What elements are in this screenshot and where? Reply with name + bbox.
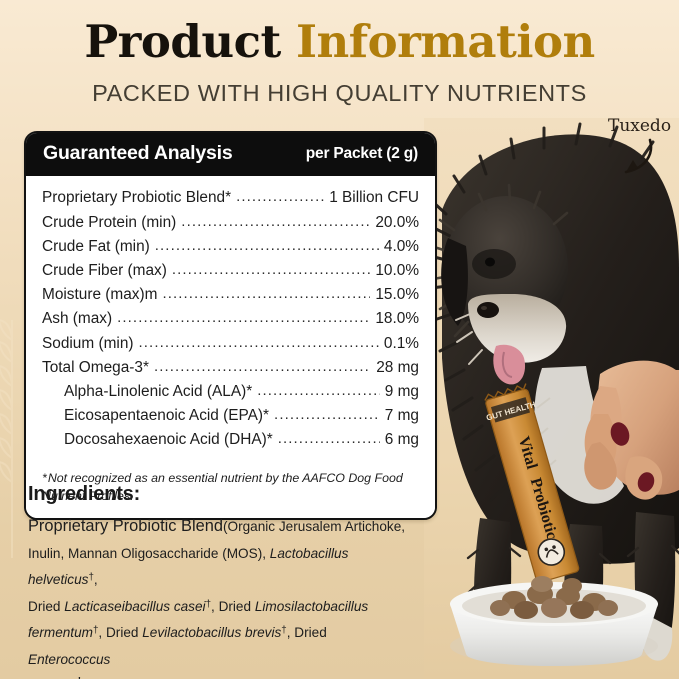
nutrient-value: 20.0%	[375, 215, 419, 230]
nutrient-name: Proprietary Probiotic Blend*	[42, 190, 231, 205]
page-subtitle: PACKED WITH HIGH QUALITY NUTRIENTS	[0, 80, 679, 107]
nutrient-row: Sodium (min)............................…	[42, 331, 419, 355]
ingredients-paren-open: (Organic Jerusalem Artichoke,	[223, 519, 405, 534]
nutrient-name: Crude Fiber (max)	[42, 263, 167, 278]
leader-dots: ........................................…	[274, 407, 380, 422]
ingredients-line3-b: , Dried	[211, 599, 255, 614]
nutrient-row: Moisture (max)m.........................…	[42, 283, 419, 307]
ingredients-line3-italic2: Limosilactobacillus	[255, 599, 368, 614]
nutrient-list: Proprietary Probiotic Blend*............…	[26, 176, 435, 460]
dog-name-label: Tuxedo	[608, 116, 671, 136]
nutrient-row: Proprietary Probiotic Blend*............…	[42, 186, 419, 210]
nutrient-value: 15.0%	[375, 287, 419, 302]
nutrient-name: Ash (max)	[42, 311, 112, 326]
page-title: Product Information	[0, 18, 679, 67]
ingredients-line4-italic: fermentum	[28, 625, 93, 640]
leader-dots: ........................................…	[162, 286, 370, 301]
nutrient-row: Crude Fat (min).........................…	[42, 234, 419, 258]
nutrient-name: Eicosapentaenoic Acid (EPA)*	[64, 408, 269, 423]
leader-dots: ........................................…	[236, 189, 324, 204]
ingredients-text: Proprietary Probiotic Blend(Organic Jeru…	[28, 513, 410, 679]
ingredients-line4-italic3: Enterococcus	[28, 652, 110, 667]
product-photo: GUT HEALTH Vital Probiotic	[424, 118, 679, 679]
nutrient-row: Total Omega-3*..........................…	[42, 355, 419, 379]
ingredients-line4-italic2: Levilactobacillus brevis	[142, 625, 281, 640]
nutrient-row: Crude Protein (min).....................…	[42, 210, 419, 234]
nutrient-value: 9 mg	[385, 384, 419, 399]
infographic-page: Product Information PACKED WITH HIGH QUA…	[0, 0, 679, 679]
nutrient-row: Ash (max)...............................…	[42, 307, 419, 331]
card-header: Guaranteed Analysis per Packet (2 g)	[26, 133, 435, 176]
leader-dots: ........................................…	[181, 214, 370, 229]
leader-dots: ........................................…	[139, 335, 379, 350]
ingredients-line2-b: ,	[94, 572, 98, 587]
leader-dots: ........................................…	[117, 310, 370, 325]
leader-dots: ........................................…	[172, 262, 370, 277]
nutrient-row: Crude Fiber (max).......................…	[42, 259, 419, 283]
nutrient-row: Docosahexaenoic Acid (DHA)*.............…	[42, 428, 419, 452]
title-part-product: Product	[84, 15, 280, 68]
nutrient-name: Total Omega-3*	[42, 360, 149, 375]
title-part-information: Information	[296, 15, 595, 68]
nutrient-value: 1 Billion CFU	[329, 190, 419, 205]
ingredients-line3-a: Dried	[28, 599, 64, 614]
ingredients-heading: Ingredients:	[28, 483, 410, 506]
ingredients-line2-a: Inulin, Mannan Oligosaccharide (MOS),	[28, 546, 270, 561]
guaranteed-analysis-card: Guaranteed Analysis per Packet (2 g) Pro…	[24, 131, 437, 520]
callout-arrow-icon	[600, 138, 660, 180]
leader-dots: ........................................…	[155, 238, 379, 253]
leader-dots: ........................................…	[278, 431, 380, 446]
ingredients-line4-a: , Dried	[98, 625, 142, 640]
ingredients-section: Ingredients: Proprietary Probiotic Blend…	[28, 483, 410, 679]
nutrient-value: 4.0%	[384, 239, 419, 254]
nutrient-name: Moisture (max)m	[42, 287, 157, 302]
nutrient-value: 6 mg	[385, 432, 419, 447]
nutrient-value: 7 mg	[385, 408, 419, 423]
card-title: Guaranteed Analysis	[43, 142, 232, 165]
ingredients-lead: Proprietary Probiotic Blend	[28, 517, 223, 535]
nutrient-value: 18.0%	[375, 311, 419, 326]
nutrient-value: 28 mg	[376, 360, 419, 375]
nutrient-value: 10.0%	[375, 263, 419, 278]
nutrient-name: Alpha-Linolenic Acid (ALA)*	[64, 384, 252, 399]
nutrient-row: Eicosapentaenoic Acid (EPA)*............…	[42, 404, 419, 428]
card-serving-label: per Packet (2 g)	[306, 145, 418, 163]
leader-dots: ........................................…	[257, 383, 380, 398]
ingredients-line3-italic: Lacticaseibacillus casei	[64, 599, 205, 614]
nutrient-value: 0.1%	[384, 336, 419, 351]
leader-dots: ........................................…	[154, 359, 371, 374]
nutrient-name: Crude Protein (min)	[42, 215, 176, 230]
ingredients-line4-b: , Dried	[287, 625, 327, 640]
nutrient-name: Docosahexaenoic Acid (DHA)*	[64, 432, 273, 447]
nutrient-name: Sodium (min)	[42, 336, 134, 351]
nutrient-row: Alpha-Linolenic Acid (ALA)*.............…	[42, 380, 419, 404]
nutrient-name: Crude Fat (min)	[42, 239, 150, 254]
